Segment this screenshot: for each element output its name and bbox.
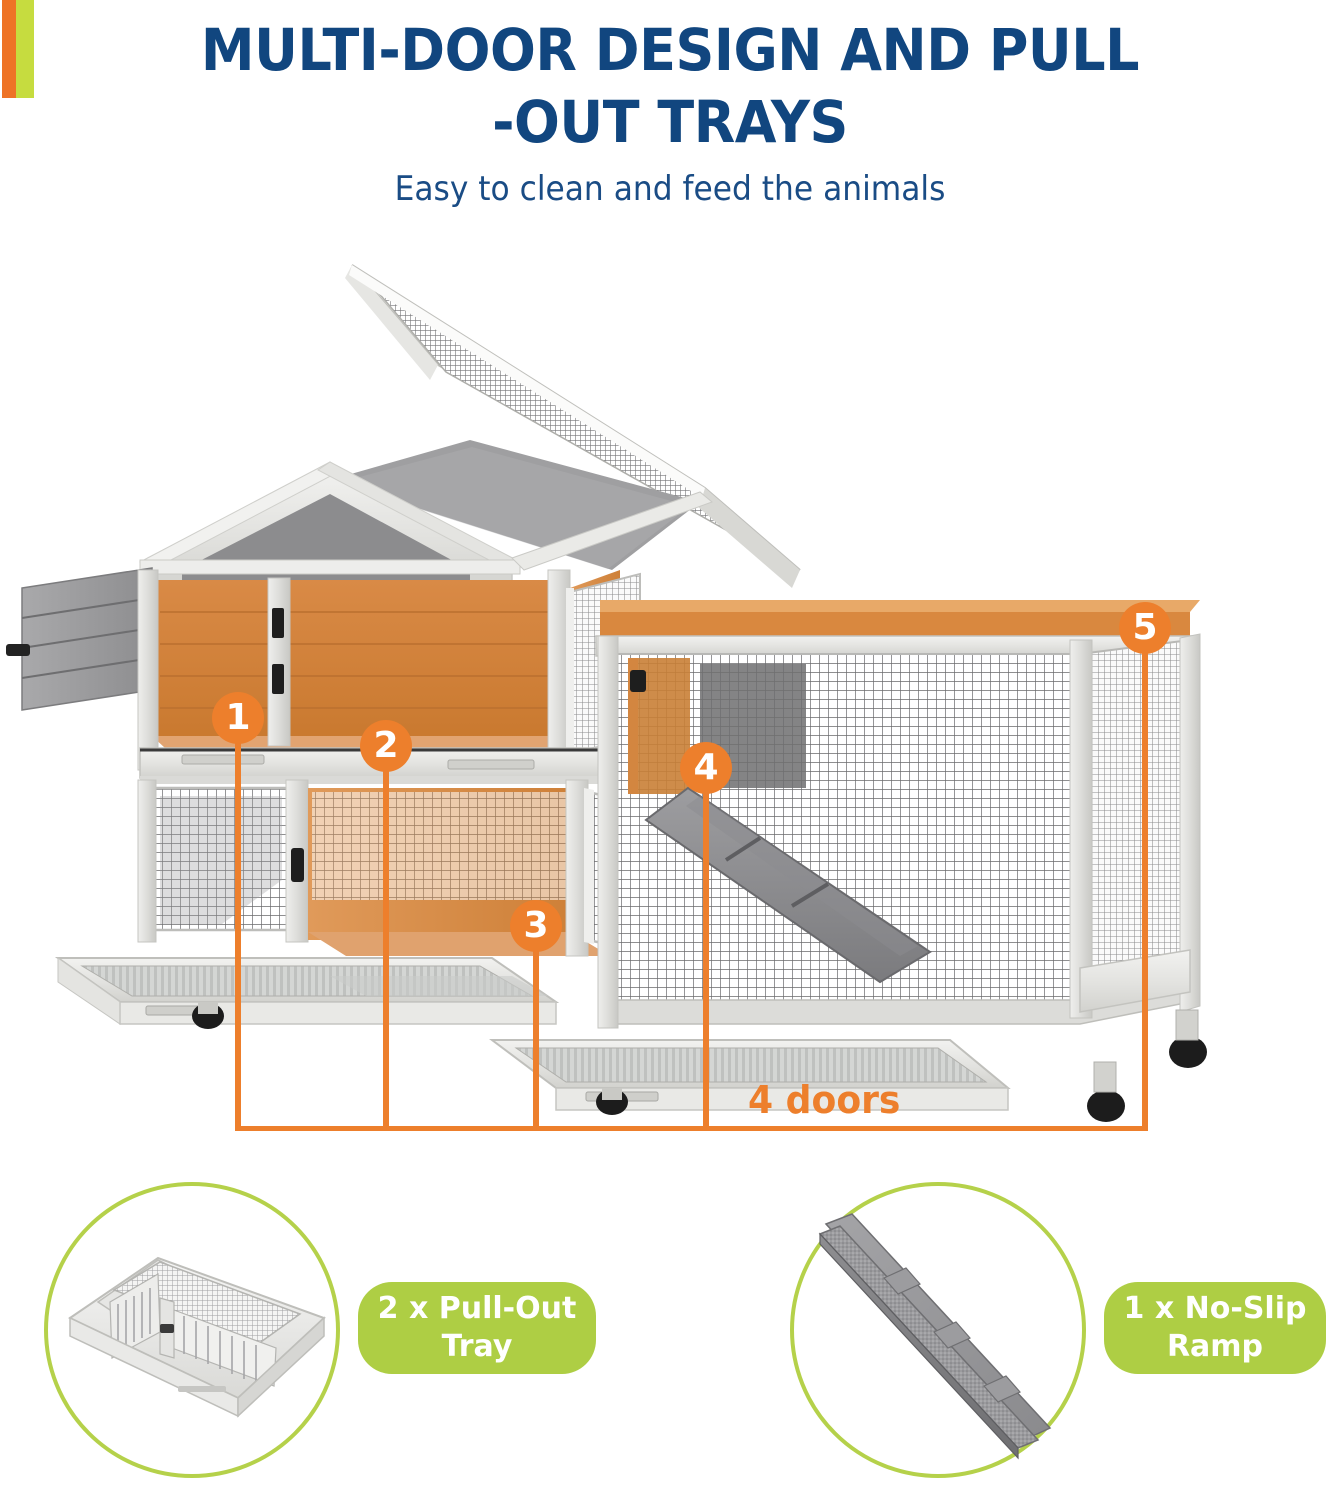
callout-2-line — [383, 748, 389, 1130]
run-enclosure — [596, 600, 1200, 1028]
callout-5-line — [1142, 648, 1148, 1130]
feature-2-label-line-2: Ramp — [1167, 1328, 1263, 1366]
feature-1-label-line-2: Tray — [442, 1328, 513, 1366]
drawer-handle-right — [448, 760, 534, 769]
doors-count-label: 4 doors — [748, 1078, 900, 1122]
upper-door-hinge-top — [272, 608, 284, 638]
callout-3-badge[interactable]: 3 — [510, 900, 562, 952]
pull-out-tray-icon — [62, 1240, 332, 1430]
callout-2-badge[interactable]: 2 — [360, 720, 412, 772]
callout-1-badge[interactable]: 1 — [212, 692, 264, 744]
feature-1-label-line-1: 2 x Pull-Out — [378, 1290, 577, 1328]
feature-2-pill: 1 x No-Slip Ramp — [1104, 1282, 1326, 1374]
product-image — [0, 240, 1340, 1140]
feature-1-pill: 2 x Pull-Out Tray — [358, 1282, 596, 1374]
page-subtitle: Easy to clean and feed the animals — [54, 158, 1287, 212]
title-block: MULTI-DOOR DESIGN AND PULL -OUT TRAYS Ea… — [0, 0, 1340, 212]
callout-bracket-line — [235, 1126, 1148, 1131]
side-door-latch — [6, 644, 30, 656]
callout-4-line — [703, 772, 709, 1130]
drawer-handle-left — [182, 755, 264, 764]
feature-2-label-line-1: 1 x No-Slip — [1124, 1290, 1307, 1328]
upper-door-hinge-bottom — [272, 664, 284, 694]
run-hatch-latch — [630, 670, 646, 692]
callout-3-line — [533, 930, 539, 1130]
page-title-line-1: MULTI-DOOR DESIGN AND PULL — [47, 0, 1293, 86]
side-door-open — [6, 568, 152, 710]
lower-door-latch — [291, 848, 304, 882]
callout-5-badge[interactable]: 5 — [1119, 602, 1171, 654]
page-title-line-2: -OUT TRAYS — [47, 86, 1293, 158]
callout-1-line — [235, 720, 241, 1130]
callout-4-badge[interactable]: 4 — [680, 742, 732, 794]
rabbit-hutch-illustration — [0, 240, 1340, 1140]
no-slip-ramp-icon — [800, 1200, 1080, 1462]
